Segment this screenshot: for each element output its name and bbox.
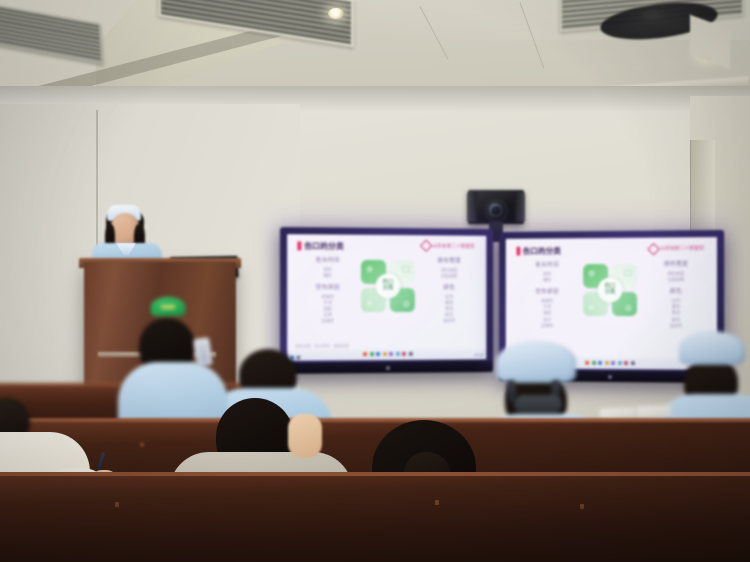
app-icon[interactable] <box>611 361 615 365</box>
slide-group: 愈合时间 急性 慢性 <box>301 256 354 280</box>
audience-hand <box>288 414 322 458</box>
monitor-icon: 🖵 <box>624 269 632 279</box>
gear-icon: ⚙ <box>588 269 595 278</box>
slide-column-right: 损伤程度 部分皮层 全层皮肤 颜色 红色 黄色 黑色 粉色 混合色 <box>424 256 475 328</box>
slide-group: 颜色 红色 黄色 黑色 粉色 混合色 <box>648 287 704 329</box>
diagram-hub: 伤口 分类 <box>598 277 623 302</box>
taskbar-start-group[interactable] <box>290 355 300 359</box>
cap-badge <box>161 305 176 309</box>
slide-column-left: 愈合时间 急性 慢性 受伤原因 机械性 手术 温度 化学 自溶性 <box>520 260 574 332</box>
slide-title-row: 伤口的分类 <box>516 245 561 256</box>
camera-wing-left <box>467 192 477 222</box>
group-heading: 受伤原因 <box>301 283 354 291</box>
wound-classification-diagram: ⚙ 🖵 ≋ ◎ 伤口 分类 <box>361 260 415 312</box>
app-icon[interactable] <box>396 352 400 356</box>
search-icon[interactable] <box>296 355 300 359</box>
slide-group: 颜色 红色 黄色 黑色 粉色 混合色 <box>424 283 475 324</box>
hub-line-2: 分类 <box>383 286 394 292</box>
app-icon[interactable] <box>402 352 406 356</box>
group-heading: 愈合时间 <box>520 260 574 268</box>
wifi-icon: ≋ <box>588 303 595 312</box>
camera-lens-icon <box>487 201 506 220</box>
hospital-logo-icon <box>647 242 660 255</box>
slide-title: 伤口的分类 <box>523 245 561 256</box>
handout-paper <box>637 405 671 417</box>
slide-body: 愈合时间 急性 慢性 受伤原因 机械性 手术 温度 化学 自溶性 <box>287 256 486 345</box>
left-screen[interactable]: 伤口的分类 山东省第二人民医院 愈合时间 急性 慢性 受伤原因 机械性 手术 <box>280 227 493 374</box>
hospital-logo: 山东省第二人民医院 <box>649 244 704 253</box>
hub-line-2: 分类 <box>605 290 616 296</box>
recessed-ceiling-light <box>328 8 344 19</box>
title-accent-mark <box>297 242 301 251</box>
group-heading: 损伤程度 <box>648 260 704 268</box>
group-item: 自溶性 <box>520 322 574 328</box>
screen-power-led <box>386 366 390 370</box>
camera-wing-right <box>515 192 525 222</box>
slide-group: 受伤原因 机械性 手术 温度 化学 自溶性 <box>301 283 354 325</box>
screen-chin <box>280 361 493 374</box>
app-icon[interactable] <box>409 352 413 356</box>
app-icon[interactable] <box>624 361 628 365</box>
app-icon[interactable] <box>376 352 380 356</box>
bench-screw <box>580 504 584 509</box>
taskbar-clock: 10:42 <box>474 353 484 357</box>
app-icon[interactable] <box>370 352 374 356</box>
app-icon[interactable] <box>383 352 387 356</box>
phone-screen <box>197 340 210 363</box>
app-icon[interactable] <box>389 352 393 356</box>
group-heading: 颜色 <box>648 287 704 295</box>
group-item: 慢性 <box>520 277 574 283</box>
hospital-logo-icon <box>420 240 433 253</box>
bench-screw <box>115 502 119 507</box>
wound-classification-diagram: ⚙ 🖵 ≋ ◎ 伤口 分类 <box>583 264 637 316</box>
group-item: 全层皮肤 <box>648 277 704 283</box>
face-mask <box>514 395 562 414</box>
group-heading: 受伤原因 <box>520 287 574 295</box>
bench-screw <box>435 500 439 505</box>
hospital-logo-text: 山东省第二人民医院 <box>660 245 704 251</box>
bench-screw <box>140 442 144 447</box>
wifi-icon: ≋ <box>366 299 373 308</box>
group-item: 自溶性 <box>301 319 354 325</box>
slide-group: 愈合时间 急性 慢性 <box>520 260 574 283</box>
slide-group: 损伤程度 部分皮层 全层皮肤 <box>648 260 704 284</box>
camera-body <box>468 190 524 224</box>
lecture-hall-photo: 伤口的分类 山东省第二人民医院 愈合时间 急性 慢性 受伤原因 机械性 手术 <box>0 0 750 562</box>
slide-title: 伤口的分类 <box>304 241 343 252</box>
app-icon[interactable] <box>585 361 589 365</box>
app-icon[interactable] <box>592 361 596 365</box>
wooden-bench-row <box>0 472 750 562</box>
group-item: 慢性 <box>301 273 354 279</box>
slide-left: 伤口的分类 山东省第二人民医院 愈合时间 急性 慢性 受伤原因 机械性 手术 <box>287 234 486 361</box>
group-item: 混合色 <box>648 323 704 329</box>
title-accent-mark <box>516 246 520 255</box>
green-cap <box>151 297 185 316</box>
app-icon[interactable] <box>605 361 609 365</box>
slide-column-right: 损伤程度 部分皮层 全层皮肤 颜色 红色 黄色 黑色 粉色 混合色 <box>648 260 704 333</box>
hospital-logo: 山东省第二人民医院 <box>422 241 475 250</box>
compass-icon: ◎ <box>625 303 632 312</box>
group-heading: 颜色 <box>424 283 475 291</box>
gear-icon: ⚙ <box>366 265 373 274</box>
slide-title-row: 伤口的分类 <box>297 241 344 252</box>
nurse-cap <box>496 341 576 383</box>
os-taskbar[interactable]: 10:42 <box>287 348 486 361</box>
group-item: 全层皮肤 <box>424 273 475 279</box>
group-heading: 损伤程度 <box>424 256 475 264</box>
app-icon[interactable] <box>363 353 367 357</box>
app-icon[interactable] <box>598 361 602 365</box>
compass-icon: ◎ <box>403 299 410 308</box>
group-heading: 愈合时间 <box>301 256 354 264</box>
screen-power-led <box>608 375 612 379</box>
group-item: 混合色 <box>424 318 475 324</box>
nurse-cap <box>679 331 745 365</box>
app-icon[interactable] <box>618 361 622 365</box>
monitor-icon: 🖵 <box>402 265 410 275</box>
diagram-hub: 伤口 分类 <box>376 273 401 298</box>
slide-group: 损伤程度 部分皮层 全层皮肤 <box>424 256 475 279</box>
slide-group: 受伤原因 机械性 手术 温度 化学 自溶性 <box>520 287 574 328</box>
slide-column-left: 愈合时间 急性 慢性 受伤原因 机械性 手术 温度 化学 自溶性 <box>301 256 354 329</box>
app-icon[interactable] <box>631 361 635 365</box>
hospital-logo-text: 山东省第二人民医院 <box>432 243 474 249</box>
